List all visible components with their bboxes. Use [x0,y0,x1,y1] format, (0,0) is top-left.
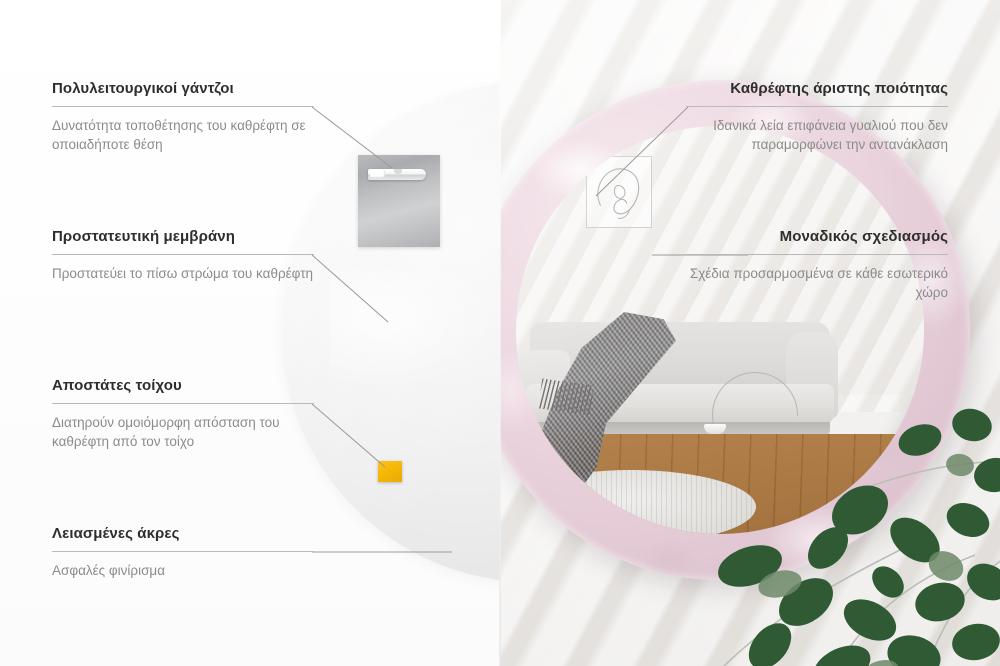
foliage-icon [710,370,1000,666]
green-leaves-branch [710,370,1000,666]
callout-rule [52,403,314,404]
callout-rule [52,551,314,552]
callout-multifunctional-hooks: Πολυλειτουργικοί γάντζοι Δυνατότητα τοπο… [52,80,314,154]
callout-protective-membrane: Προστατευτική μεμβράνη Προστατεύει το πί… [52,228,314,283]
callout-description: Σχέδια προσαρμοσμένα σε κάθε εσωτερικό χ… [686,264,948,302]
metal-hanger-plate [358,155,440,247]
callout-rule [686,106,948,107]
callout-description: Ασφαλές φινίρισμα [52,561,314,580]
product-infographic: Πολυλειτουργικοί γάντζοι Δυνατότητα τοπο… [0,0,1000,666]
callout-title: Καθρέφτης άριστης ποιότητας [686,80,948,97]
callout-description: Δυνατότητα τοποθέτησης του καθρέφτη σε ο… [52,116,314,154]
callout-wall-spacers: Αποστάτες τοίχου Διατηρούν ομοιόμορφη απ… [52,377,314,451]
callout-title: Λειασμένες άκρες [52,525,314,542]
callout-title: Προστατευτική μεμβράνη [52,228,314,245]
framed-line-art [586,156,652,228]
callout-title: Μοναδικός σχεδιασμός [686,228,948,245]
yellow-wall-spacer [378,461,402,482]
callout-top-quality-mirror: Καθρέφτης άριστης ποιότητας Ιδανικά λεία… [686,80,948,154]
line-art-face-icon [587,157,651,227]
callout-polished-edges: Λειασμένες άκρες Ασφαλές φινίρισμα [52,525,314,580]
callout-description: Ιδανικά λεία επιφάνεια γυαλιού που δεν π… [686,116,948,154]
panel-divider [499,0,501,666]
callout-unique-design: Μοναδικός σχεδιασμός Σχέδια προσαρμοσμέν… [686,228,948,302]
callout-description: Προστατεύει το πίσω στρώμα του καθρέφτη [52,264,314,283]
callout-rule [52,106,314,107]
callout-description: Διατηρούν ομοιόμορφη απόσταση του καθρέφ… [52,413,314,451]
callout-rule [52,254,314,255]
hook-bar [368,169,426,180]
callout-rule [686,254,948,255]
callout-title: Αποστάτες τοίχου [52,377,314,394]
hook-bar-notch [394,169,402,174]
callout-title: Πολυλειτουργικοί γάντζοι [52,80,314,97]
